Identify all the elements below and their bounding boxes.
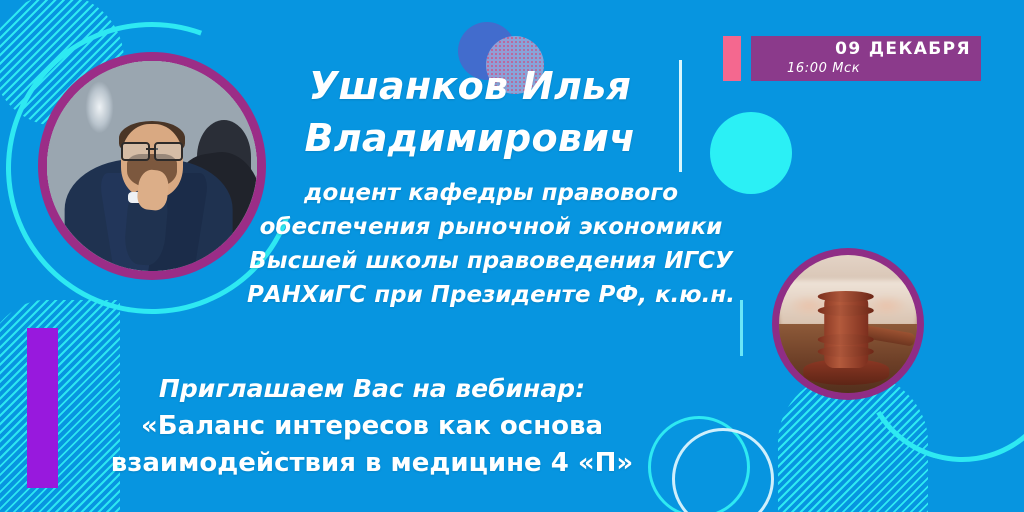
event-time: 16:00 Мск xyxy=(787,61,860,76)
speaker-role-line-2: обеспечения рыночной экономики xyxy=(236,210,746,244)
speaker-name-line-1: Ушанков Илья xyxy=(270,60,670,112)
gavel-band-3 xyxy=(818,334,874,345)
eyeglasses-icon xyxy=(121,142,183,157)
gavel-photo-circle xyxy=(772,248,924,400)
event-date: 09 ДЕКАБРЯ xyxy=(835,39,971,59)
webinar-title: «Баланс интересов как основа взаимодейст… xyxy=(64,408,680,482)
speaker-name: Ушанков Илья Владимирович xyxy=(270,60,670,164)
lens-right xyxy=(154,142,183,161)
gavel-photo-image xyxy=(779,255,917,393)
speaker-portrait xyxy=(38,52,266,280)
date-badge: 09 ДЕКАБРЯ 16:00 Мск xyxy=(751,36,981,81)
gavel-band-4 xyxy=(818,346,874,357)
speaker-role-line-1: доцент кафедры правового xyxy=(236,176,746,210)
lens-left xyxy=(121,142,150,161)
speaker-role-line-3: Высшей школы правоведения ИГСУ xyxy=(236,244,746,278)
gavel-band-2 xyxy=(818,305,874,316)
purple-bar-decoration xyxy=(27,328,58,488)
invitation-line: Приглашаем Вас на вебинар: xyxy=(72,372,672,405)
speaker-role: доцент кафедры правового обеспечения рын… xyxy=(236,176,746,312)
webinar-title-line-2: взаимодействия в медицине 4 «П» xyxy=(64,445,680,482)
vertical-divider-line xyxy=(679,60,682,172)
speaker-name-line-2: Владимирович xyxy=(270,112,670,164)
date-badge-accent-bar xyxy=(723,36,741,81)
speaker-role-line-4: РАНХиГС при Президенте РФ, к.ю.н. xyxy=(236,278,746,312)
gavel-band-1 xyxy=(818,291,874,302)
webinar-announcement-poster: Ушанков Илья Владимирович доцент кафедры… xyxy=(0,0,1024,512)
white-outline-ring-decoration xyxy=(672,428,774,512)
speaker-portrait-image xyxy=(47,61,257,271)
webinar-title-line-1: «Баланс интересов как основа xyxy=(64,408,680,445)
